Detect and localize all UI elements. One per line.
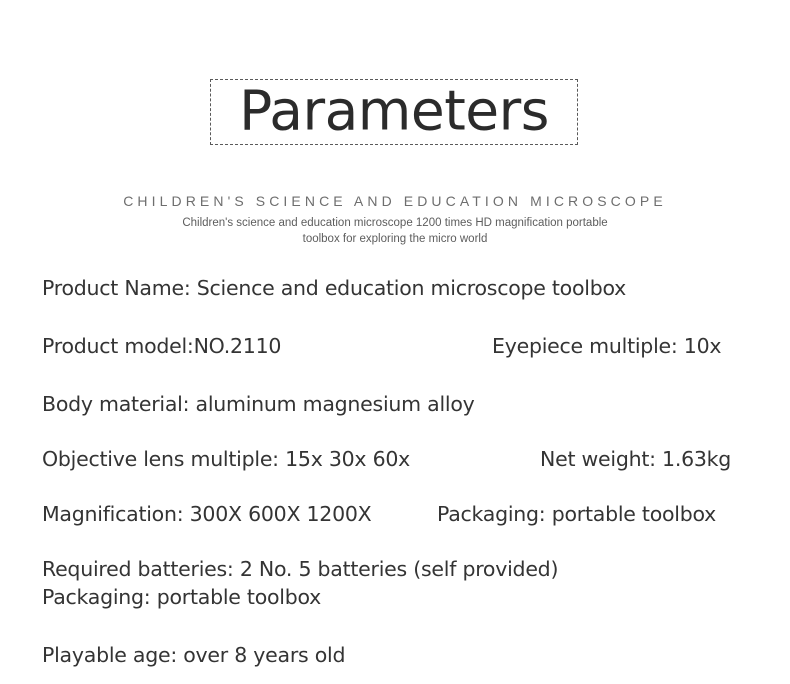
- spec-row-magnification: Magnification: 300X 600X 1200X Packaging…: [42, 502, 790, 528]
- spec-row-product-name: Product Name: Science and education micr…: [42, 276, 790, 302]
- spec-row-playable-age: Playable age: over 8 years old: [42, 643, 790, 669]
- spec-primary-required-batteries: Required batteries: 2 No. 5 batteries (s…: [42, 557, 558, 581]
- spec-secondary-packaging: Packaging: portable toolbox: [437, 502, 716, 528]
- spec-secondary-eyepiece-multiple: Eyepiece multiple: 10x: [492, 334, 721, 360]
- spec-row-product-model: Product model:NO.2110 Eyepiece multiple:…: [42, 334, 790, 360]
- spec-primary-magnification: Magnification: 300X 600X 1200X: [42, 502, 371, 526]
- spec-primary-product-name: Product Name: Science and education micr…: [42, 276, 626, 300]
- specification-list: Product Name: Science and education micr…: [0, 0, 790, 684]
- spec-primary-playable-age: Playable age: over 8 years old: [42, 643, 345, 667]
- spec-primary-product-model: Product model:NO.2110: [42, 334, 281, 358]
- spec-row-body-material: Body material: aluminum magnesium alloy: [42, 392, 790, 418]
- spec-row-required-batteries: Required batteries: 2 No. 5 batteries (s…: [42, 557, 790, 583]
- spec-primary-packaging: Packaging: portable toolbox: [42, 585, 321, 609]
- spec-secondary-net-weight: Net weight: 1.63kg: [540, 447, 731, 473]
- spec-primary-body-material: Body material: aluminum magnesium alloy: [42, 392, 475, 416]
- spec-row-objective-lens: Objective lens multiple: 15x 30x 60x Net…: [42, 447, 790, 473]
- spec-row-packaging: Packaging: portable toolbox: [42, 585, 790, 611]
- spec-primary-objective-lens: Objective lens multiple: 15x 30x 60x: [42, 447, 410, 471]
